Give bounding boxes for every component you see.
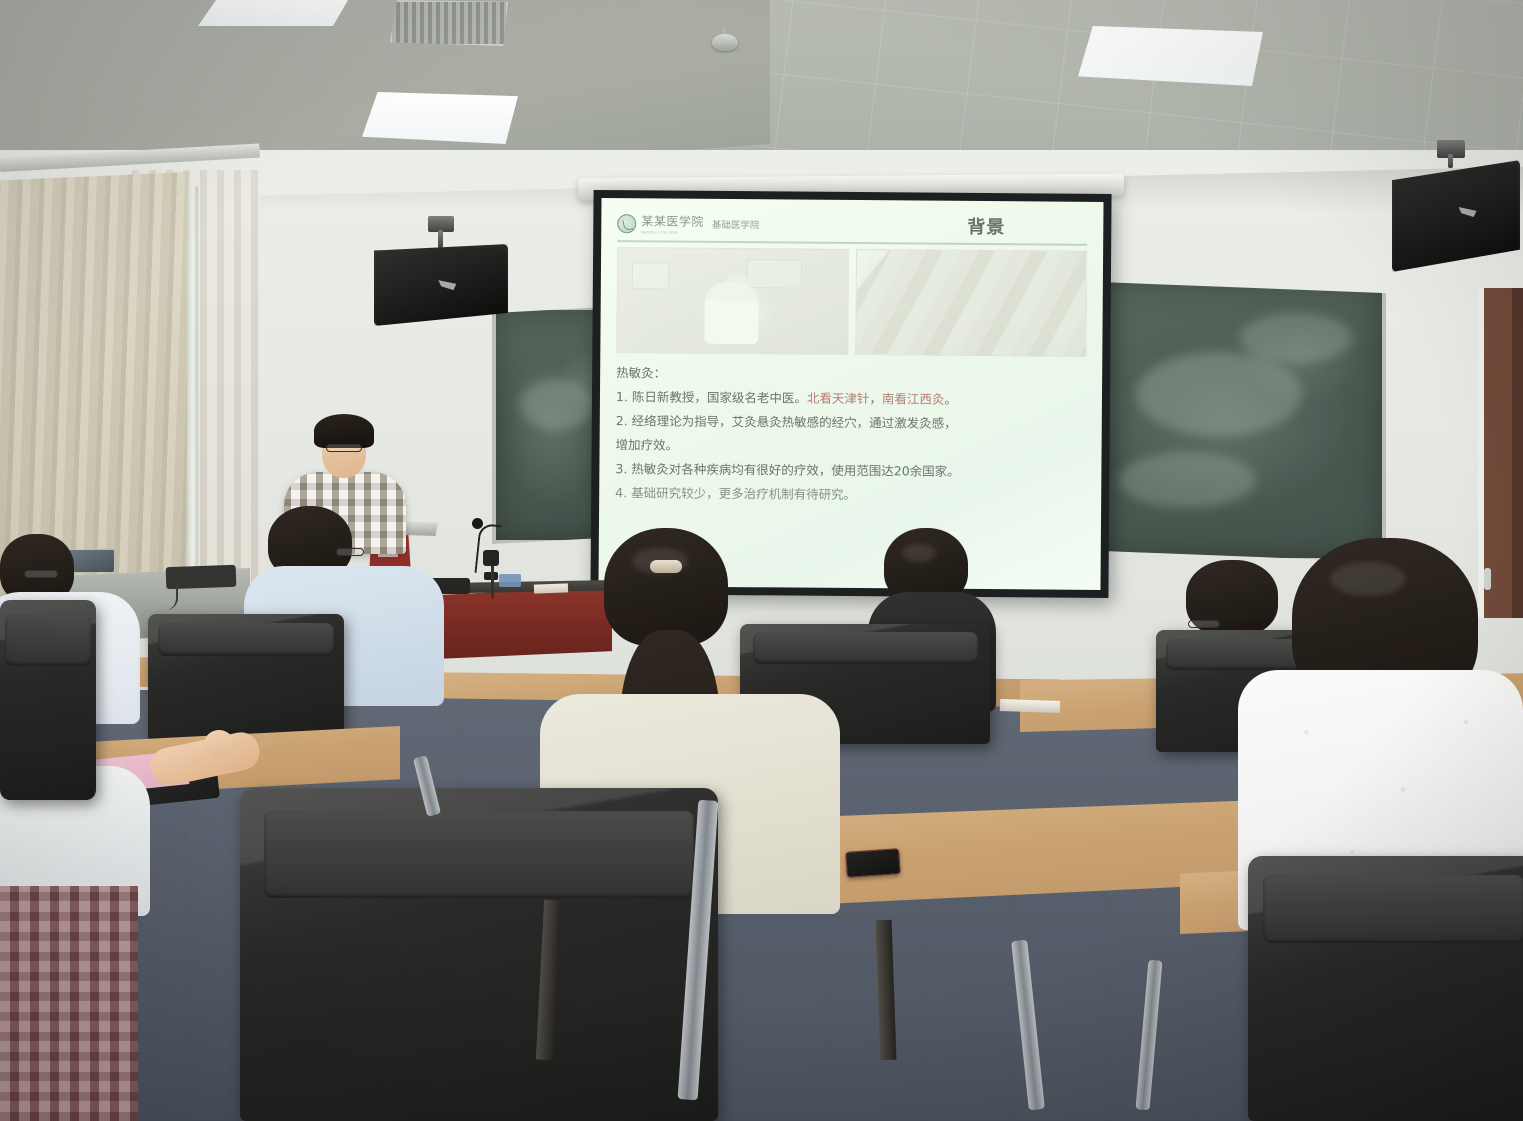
audience-glasses-icon (24, 570, 58, 578)
slide-bullet-1: 1. 陈日新教授，国家级名老中医。北看天津针，南看江西灸。 (616, 390, 1086, 407)
slide-bullet-1-prefix: 1. 陈日新教授，国家级名老中医。 (616, 389, 807, 405)
slide-bullet-1-highlight-b: 南看江西灸 (882, 391, 945, 406)
desk-papers (534, 583, 568, 593)
air-vent (390, 0, 508, 46)
hair-tie (650, 560, 682, 573)
slide-section-label: 热敏灸： (616, 362, 1086, 385)
chalkboard-right (1092, 276, 1386, 562)
logo-department-name: 基础医学院 (712, 217, 760, 231)
chair[interactable] (1248, 856, 1523, 1121)
desk-blue-box (499, 574, 521, 587)
ceiling-light-panel (198, 0, 348, 26)
doctor-treating-patient-photo (616, 247, 849, 355)
slide-photo-row (616, 247, 1087, 357)
institution-logo: 某某医学院 MEDICAL COLLEGE 基础医学院 (617, 212, 759, 235)
classroom-scene: 某某医学院 MEDICAL COLLEGE 基础医学院 背景 (0, 0, 1523, 1121)
smartphone-on-table[interactable] (845, 848, 901, 878)
ceiling-light-panel (1078, 26, 1263, 86)
slide-bullet-1-suffix: 。 (944, 391, 957, 406)
slide-bullet-3: 3. 热敏灸对各种疾病均有很好的疗效，使用范围达20余国家。 (615, 462, 1085, 479)
smoke-detector (712, 34, 738, 51)
logo-emblem-icon (617, 214, 636, 233)
chair[interactable] (0, 600, 96, 800)
wall-pipe (188, 186, 198, 586)
slide-header: 某某医学院 MEDICAL COLLEGE 基础医学院 背景 (617, 208, 1087, 242)
audience-hand (204, 730, 234, 758)
slide-bullet-1-highlight-a: 北看天津针 (807, 390, 870, 405)
slide-bullet-2-cont: 增加疗效。 (616, 438, 1086, 455)
speaker-mount-left (438, 230, 443, 248)
speaker-mount-right (1448, 154, 1453, 168)
audience-head (604, 528, 728, 646)
door-handle[interactable] (1484, 568, 1491, 590)
chair[interactable] (240, 788, 718, 1121)
slide-bullet-4: 4. 基础研究较少，更多治疗机制有待研究。 (615, 486, 1085, 503)
slide-bullet-1-middle: ， (869, 391, 882, 406)
logo-institution-name-en: MEDICAL COLLEGE (641, 230, 704, 234)
audience-glasses-icon (1188, 620, 1220, 628)
photo-person-body (705, 282, 759, 344)
av-cable (156, 582, 178, 610)
slide-title: 背景 (967, 213, 1005, 239)
gooseneck-microphone (472, 518, 483, 529)
slide-body: 热敏灸： 1. 陈日新教授，国家级名老中医。北看天津针，南看江西灸。 2. 经络… (615, 362, 1086, 503)
moxibustion-sticks-photo (855, 249, 1087, 357)
camera-stand (483, 550, 499, 566)
audience-glasses-icon (336, 548, 364, 556)
ceiling-light-panel (362, 92, 518, 144)
chair[interactable] (148, 614, 344, 742)
slide-bullet-2: 2. 经络理论为指导，艾灸悬灸热敏感的经穴，通过激发灸感， (616, 414, 1086, 431)
presenter-glasses-icon (326, 444, 362, 452)
audience-skirt (0, 886, 138, 1121)
logo-institution-name: 某某医学院 (641, 214, 704, 228)
wall-speaker-left (374, 244, 508, 326)
paper-stack (1000, 699, 1060, 713)
presenter-hair (314, 414, 374, 448)
